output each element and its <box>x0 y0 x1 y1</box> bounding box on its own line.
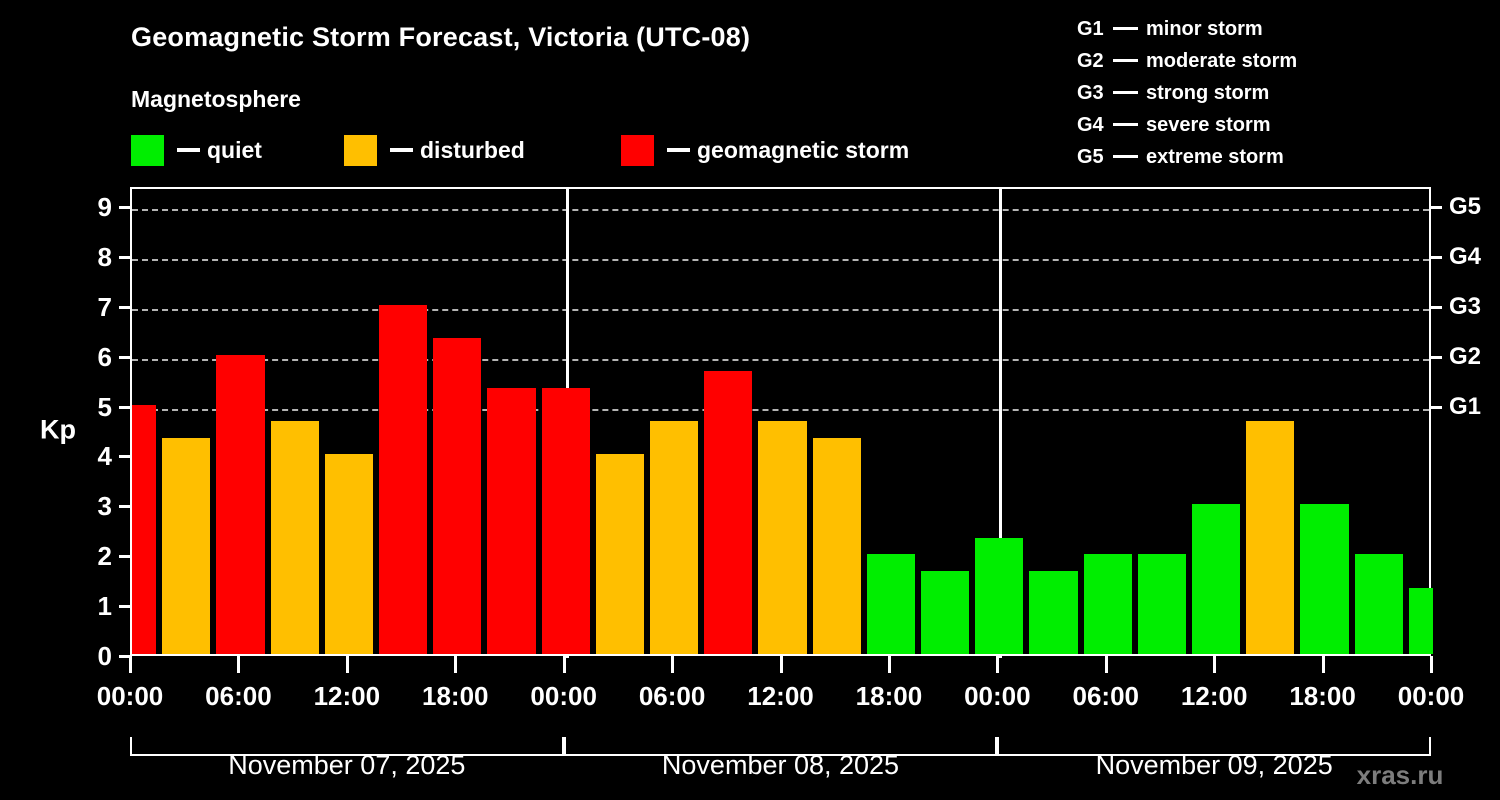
gscale-row-g3: G3strong storm <box>1077 77 1297 109</box>
bar <box>216 355 264 654</box>
x-tick-mark-12 <box>1430 656 1433 673</box>
bar <box>650 421 698 654</box>
y-axis-label: Kp <box>40 415 76 446</box>
bar <box>1029 571 1077 654</box>
date-label-3: November 09, 2025 <box>1096 752 1333 779</box>
g-tick-label-g5: G5 <box>1449 195 1481 219</box>
gscale-text-g4: severe storm <box>1146 114 1271 136</box>
gscale-text-g5: extreme storm <box>1146 146 1284 168</box>
y-tick-label-8: 8 <box>98 244 112 270</box>
y-tick-mark-3 <box>119 505 130 508</box>
x-tick-label-10: 12:00 <box>1181 683 1248 709</box>
x-tick-mark-11 <box>1322 656 1325 673</box>
y-tick-mark-9 <box>119 206 130 209</box>
x-tick-label-6: 12:00 <box>747 683 814 709</box>
x-tick-label-4: 00:00 <box>530 683 597 709</box>
legend-dash-icon <box>177 148 200 152</box>
gscale-row-g2: G2moderate storm <box>1077 45 1297 77</box>
y-tick-label-0: 0 <box>98 643 112 669</box>
gscale-dash-icon <box>1113 59 1138 62</box>
y-tick-label-7: 7 <box>98 294 112 320</box>
gscale-text-g3: strong storm <box>1146 82 1269 104</box>
bar <box>1246 421 1294 654</box>
x-tick-mark-2 <box>346 656 349 673</box>
bar <box>1300 504 1348 654</box>
x-tick-mark-8 <box>996 656 999 673</box>
y-tick-label-9: 9 <box>98 194 112 220</box>
gscale-dash-icon <box>1113 27 1138 30</box>
gscale-dash-icon <box>1113 91 1138 94</box>
bars <box>132 189 1429 654</box>
legend-label-disturbed: disturbed <box>420 139 525 162</box>
x-tick-label-8: 00:00 <box>964 683 1031 709</box>
legend-dash-icon <box>667 148 690 152</box>
x-tick-label-7: 18:00 <box>856 683 923 709</box>
x-tick-mark-10 <box>1213 656 1216 673</box>
y-tick-mark-2 <box>119 555 130 558</box>
bar <box>487 388 535 654</box>
y-tick-mark-6 <box>119 356 130 359</box>
x-tick-label-5: 06:00 <box>639 683 706 709</box>
bar <box>1084 554 1132 654</box>
y-tick-label-3: 3 <box>98 493 112 519</box>
x-tick-mark-0 <box>129 656 132 673</box>
x-tick-label-1: 06:00 <box>205 683 272 709</box>
x-tick-label-9: 06:00 <box>1073 683 1140 709</box>
x-tick-mark-4 <box>563 656 566 673</box>
x-tick-label-3: 18:00 <box>422 683 489 709</box>
bar <box>813 438 861 654</box>
gscale-code-g2: G2 <box>1077 45 1111 77</box>
legend-label-storm: geomagnetic storm <box>697 139 909 162</box>
g-tick-mark-g5 <box>1431 206 1442 209</box>
g-tick-mark-g4 <box>1431 256 1442 259</box>
bar <box>758 421 806 654</box>
x-tick-mark-9 <box>1105 656 1108 673</box>
y-tick-label-4: 4 <box>98 443 112 469</box>
y-tick-label-2: 2 <box>98 543 112 569</box>
legend-dash-icon <box>390 148 413 152</box>
x-tick-label-12: 00:00 <box>1398 683 1465 709</box>
bar <box>325 454 373 654</box>
bar <box>1192 504 1240 654</box>
x-tick-mark-5 <box>671 656 674 673</box>
y-tick-mark-5 <box>119 406 130 409</box>
bar <box>379 305 427 654</box>
legend-swatch-storm <box>621 135 654 166</box>
x-tick-mark-6 <box>780 656 783 673</box>
gscale-text-g2: moderate storm <box>1146 50 1297 72</box>
gscale-code-g3: G3 <box>1077 77 1111 109</box>
legend-label-quiet: quiet <box>207 139 262 162</box>
legend-swatch-quiet <box>131 135 164 166</box>
x-tick-label-0: 00:00 <box>97 683 164 709</box>
plot-area <box>130 187 1431 656</box>
g-tick-label-g3: G3 <box>1449 295 1481 319</box>
bar <box>271 421 319 654</box>
date-label-1: November 07, 2025 <box>228 752 465 779</box>
y-tick-mark-8 <box>119 256 130 259</box>
gscale-legend: G1minor stormG2moderate stormG3strong st… <box>1077 13 1297 173</box>
gscale-text-g1: minor storm <box>1146 18 1263 40</box>
x-tick-mark-7 <box>888 656 891 673</box>
gscale-row-g1: G1minor storm <box>1077 13 1297 45</box>
gscale-dash-icon <box>1113 155 1138 158</box>
magnetosphere-label: Magnetosphere <box>131 86 301 113</box>
page-title: Geomagnetic Storm Forecast, Victoria (UT… <box>131 22 750 53</box>
watermark: xras.ru <box>1357 760 1444 791</box>
bar <box>132 405 156 654</box>
y-tick-label-5: 5 <box>98 394 112 420</box>
bar <box>433 338 481 654</box>
bar <box>542 388 590 654</box>
date-label-2: November 08, 2025 <box>662 752 899 779</box>
bar <box>1409 588 1433 654</box>
x-tick-label-11: 18:00 <box>1289 683 1356 709</box>
bar <box>1138 554 1186 654</box>
gscale-code-g5: G5 <box>1077 141 1111 173</box>
bar <box>596 454 644 654</box>
x-tick-label-2: 12:00 <box>314 683 381 709</box>
bar <box>867 554 915 654</box>
gscale-dash-icon <box>1113 123 1138 126</box>
bar <box>162 438 210 654</box>
gscale-row-g4: G4severe storm <box>1077 109 1297 141</box>
y-tick-mark-7 <box>119 306 130 309</box>
bar <box>921 571 969 654</box>
x-tick-mark-3 <box>454 656 457 673</box>
gscale-row-g5: G5extreme storm <box>1077 141 1297 173</box>
y-tick-mark-4 <box>119 455 130 458</box>
g-tick-label-g2: G2 <box>1449 345 1481 369</box>
bar <box>704 371 752 654</box>
bar <box>975 538 1023 654</box>
g-tick-mark-g1 <box>1431 406 1442 409</box>
g-tick-mark-g3 <box>1431 306 1442 309</box>
gscale-code-g4: G4 <box>1077 109 1111 141</box>
y-tick-label-1: 1 <box>98 593 112 619</box>
legend-entry-disturbed: disturbed <box>344 134 525 166</box>
legend-entry-quiet: quiet <box>131 134 262 166</box>
g-tick-mark-g2 <box>1431 356 1442 359</box>
legend-entry-storm: geomagnetic storm <box>621 134 909 166</box>
g-tick-label-g4: G4 <box>1449 245 1481 269</box>
x-tick-mark-1 <box>237 656 240 673</box>
y-tick-mark-1 <box>119 605 130 608</box>
legend-swatch-disturbed <box>344 135 377 166</box>
y-tick-label-6: 6 <box>98 344 112 370</box>
gscale-code-g1: G1 <box>1077 13 1111 45</box>
bar <box>1355 554 1403 654</box>
g-tick-label-g1: G1 <box>1449 395 1481 419</box>
